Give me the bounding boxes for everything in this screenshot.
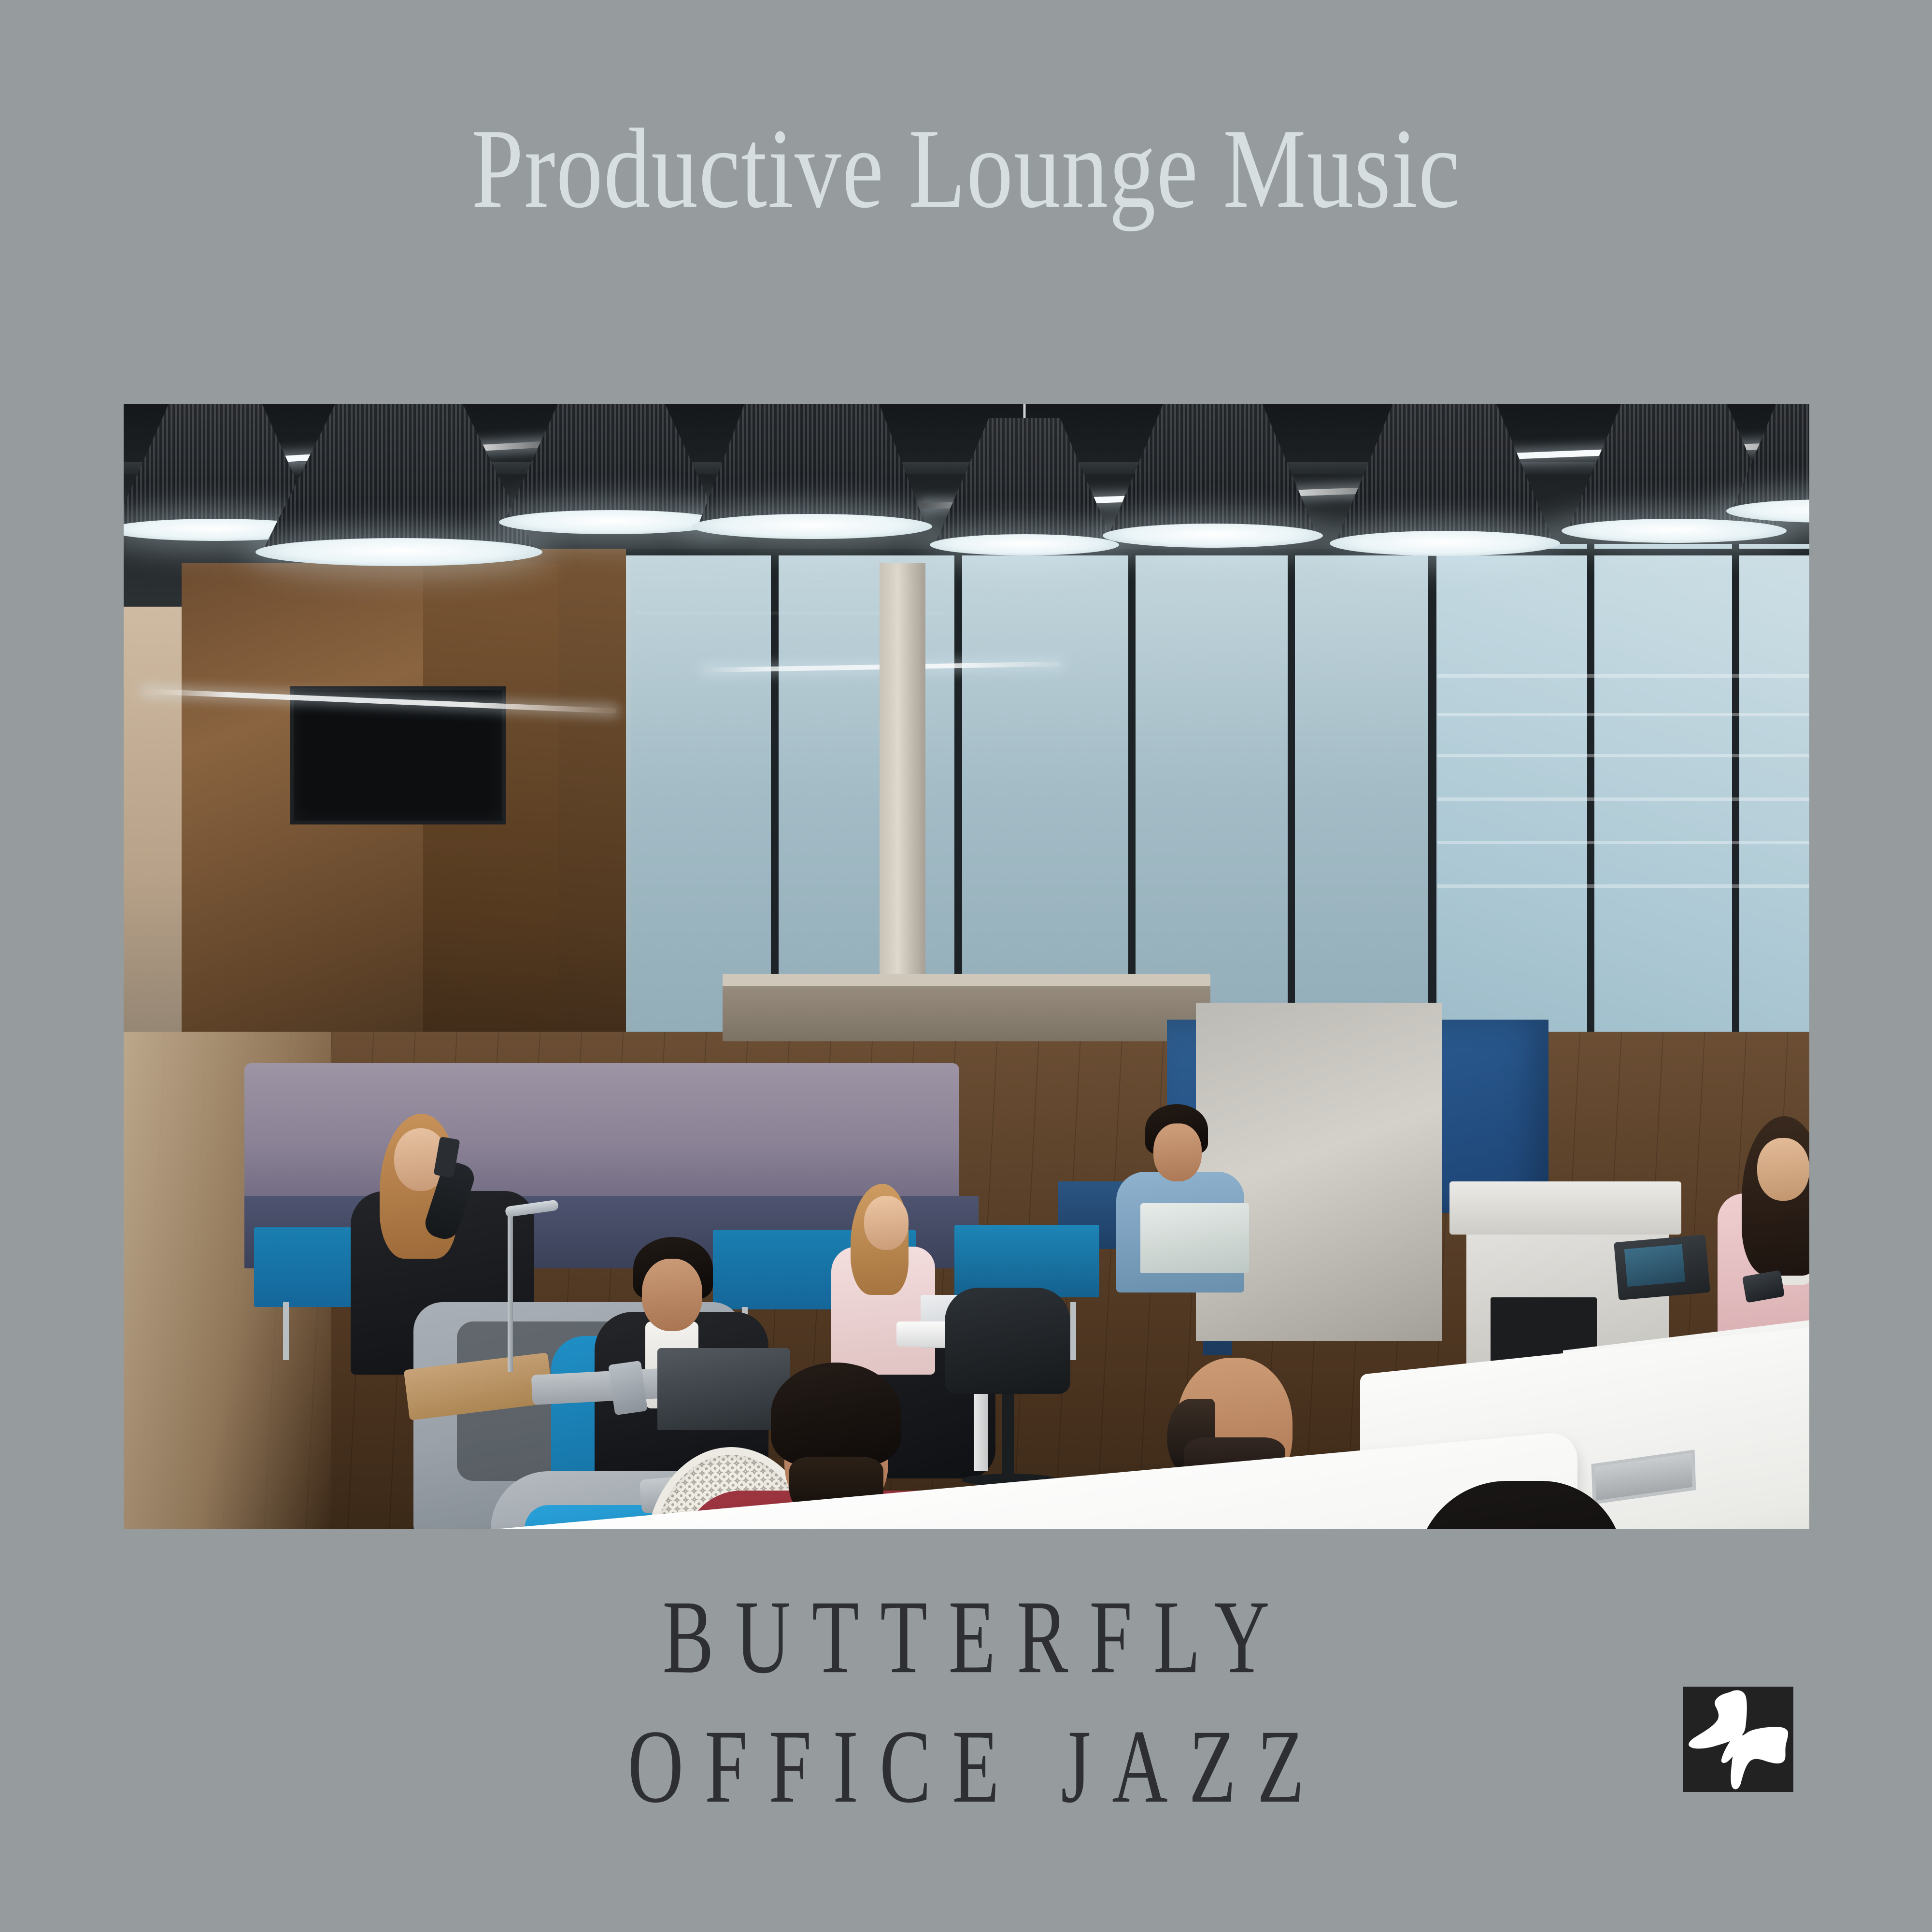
head [642,1259,702,1331]
pendant-lamp [1109,404,1317,554]
booth-leg [1070,1302,1076,1360]
cover-photo [124,404,1809,1529]
black-barstool [945,1288,1070,1394]
reception-counter [723,979,1210,1041]
booth-backrest [244,1063,959,1208]
head [1757,1138,1809,1201]
laptop [1140,1203,1249,1273]
pendant-lamp [935,418,1114,563]
stool-post [1002,1384,1014,1481]
mobile-phone [608,1361,648,1415]
pendant-lamp [698,404,925,544]
frosted-band [1437,841,1809,844]
frosted-band [1437,713,1809,716]
pendant-lamp [1336,404,1553,563]
artist-name-line-2: OFFICE JAZZ [213,1706,1719,1827]
frosted-band [1437,797,1809,801]
artist-name-line-1: BUTTERFLY [213,1577,1719,1698]
counter-top [723,974,1210,986]
printer-scanner-lid [1449,1181,1681,1235]
laptop [657,1348,790,1430]
head [1153,1123,1202,1181]
frosted-band [1437,884,1809,888]
pendant-lamp [1732,404,1809,529]
hair [771,1363,901,1466]
head [864,1196,909,1250]
butterfly-icon [1683,1687,1793,1792]
butterfly-logo [1683,1687,1793,1792]
frosted-band [1437,754,1809,757]
frosted-band [1437,674,1809,678]
booth-leg [283,1302,289,1360]
page-title: Productive Lounge Music [174,112,1758,226]
window-mullion [1288,549,1295,1032]
pendant-lamp [505,404,718,541]
blue-cushion [954,1225,1099,1297]
task-lamp-arm [508,1213,513,1372]
pendant-lamp [264,404,534,573]
album-cover: Productive Lounge Music [0,0,1932,1932]
printer-touchscreen [1624,1244,1685,1287]
